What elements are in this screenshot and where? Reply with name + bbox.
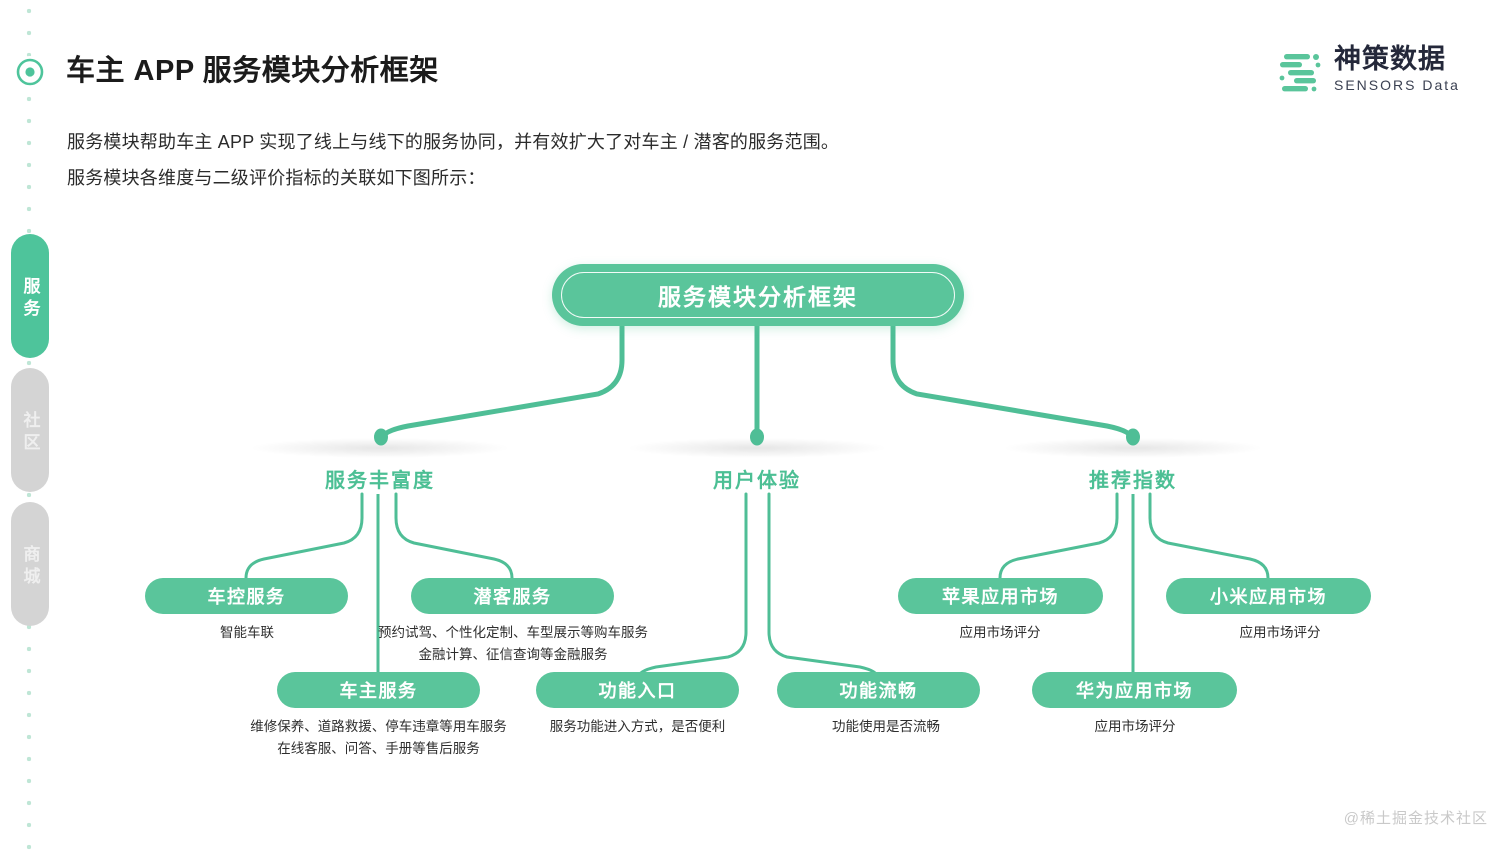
caption-line-1: 服务功能进入方式，是否便利 (540, 716, 735, 738)
leaf-node-label: 苹果应用市场 (942, 583, 1059, 609)
branch-label-user-experience[interactable]: 用户体验 (677, 464, 837, 493)
leaf-caption-feature-smoothness: 功能使用是否流畅 (806, 716, 966, 738)
caption-line-2: 金融计算、征信查询等金融服务 (372, 644, 654, 666)
leaf-node-feature-entry[interactable]: 功能入口 (536, 672, 739, 708)
leaf-node-apple-app-store[interactable]: 苹果应用市场 (898, 578, 1103, 614)
leaf-node-vehicle-control[interactable]: 车控服务 (145, 578, 348, 614)
diagram-root-label: 服务模块分析框架 (658, 278, 858, 312)
leaf-node-label: 车主服务 (340, 677, 418, 703)
leaf-caption-huawei-app-store: 应用市场评分 (1055, 716, 1215, 738)
leaf-node-huawei-app-store[interactable]: 华为应用市场 (1032, 672, 1237, 708)
leaf-caption-feature-entry: 服务功能进入方式，是否便利 (540, 716, 735, 738)
leaf-node-xiaomi-app-store[interactable]: 小米应用市场 (1166, 578, 1371, 614)
leaf-node-label: 功能入口 (599, 677, 677, 703)
caption-line-1: 应用市场评分 (1055, 716, 1215, 738)
leaf-caption-xiaomi-app-store: 应用市场评分 (1200, 622, 1360, 644)
leaf-caption-apple-app-store: 应用市场评分 (920, 622, 1080, 644)
diagram-root-node[interactable]: 服务模块分析框架 (552, 264, 964, 326)
caption-line-2: 在线客服、问答、手册等售后服务 (236, 738, 521, 760)
branch-label-recommend-index[interactable]: 推荐指数 (1053, 464, 1213, 493)
caption-line-1: 预约试驾、个性化定制、车型展示等购车服务 (372, 622, 654, 644)
watermark: @稀土掘金技术社区 (1344, 807, 1488, 828)
leaf-node-owner-service[interactable]: 车主服务 (277, 672, 480, 708)
diagram-connectors (0, 0, 1512, 852)
leaf-node-label: 车控服务 (208, 583, 286, 609)
caption-line-1: 应用市场评分 (920, 622, 1080, 644)
slide-canvas: 服务 社区 商城 车主 APP 服务模块分析框架 服务模块帮助车主 APP 实现… (0, 0, 1512, 852)
caption-line-1: 智能车联 (146, 622, 348, 644)
branch-label-service-richness[interactable]: 服务丰富度 (300, 464, 460, 493)
leaf-node-label: 华为应用市场 (1076, 677, 1193, 703)
leaf-node-label: 功能流畅 (840, 677, 918, 703)
analysis-framework-diagram: 服务模块分析框架 服务丰富度 用户体验 推荐指数 车控服务 智能车联 潜客服务 … (0, 0, 1512, 852)
caption-line-1: 功能使用是否流畅 (806, 716, 966, 738)
leaf-node-label: 潜客服务 (474, 583, 552, 609)
caption-line-1: 应用市场评分 (1200, 622, 1360, 644)
leaf-caption-vehicle-control: 智能车联 (146, 622, 348, 644)
leaf-caption-owner-service: 维修保养、道路救援、停车违章等用车服务 在线客服、问答、手册等售后服务 (236, 716, 521, 760)
leaf-caption-prospect-service: 预约试驾、个性化定制、车型展示等购车服务 金融计算、征信查询等金融服务 (372, 622, 654, 666)
leaf-node-feature-smoothness[interactable]: 功能流畅 (777, 672, 980, 708)
leaf-node-prospect-service[interactable]: 潜客服务 (411, 578, 614, 614)
caption-line-1: 维修保养、道路救援、停车违章等用车服务 (236, 716, 521, 738)
leaf-node-label: 小米应用市场 (1210, 583, 1327, 609)
